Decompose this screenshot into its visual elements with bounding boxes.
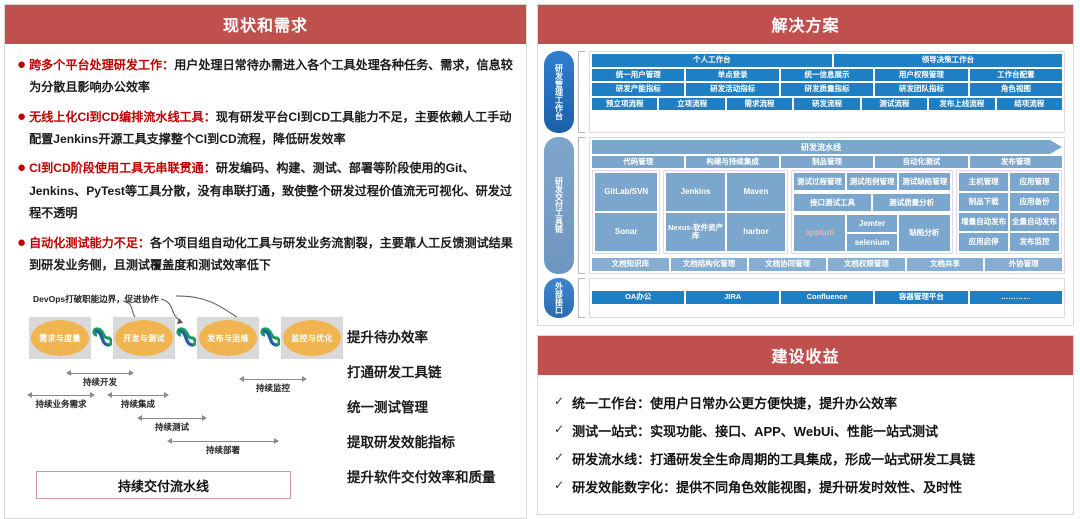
cell-doc-knowledge-base[interactable]: 文档知识库 (592, 258, 669, 270)
tool-jenkins[interactable]: Jenkins (666, 173, 724, 211)
tool-column: Jenkins Nexus-软件资产库 (666, 173, 724, 251)
tool-sonar[interactable]: Sonar (595, 213, 657, 251)
measure-label: 持续集成 (107, 398, 169, 410)
tool-full-release[interactable]: 全量自动发布 (1010, 213, 1059, 231)
docs-row: 文档知识库 文档结构化管理 文档协同管理 文档权限管理 文档共享 外协管理 (592, 258, 1062, 270)
benefits-panel: 建设收益 ✓ 统一工作台：使用户日常办公更方便快捷，提升办公效率 ✓ 测试一站式… (537, 335, 1074, 516)
benefit-body: 使用户日常办公更方便快捷，提升办公效率 (650, 396, 897, 411)
cell-capacity-metrics[interactable]: 研发产能指标 (592, 83, 684, 95)
tool-defect-analysis[interactable]: 缺陷分析 (899, 215, 950, 251)
left-column: 现状和需求 ● 跨多个平台处理研发工作：用户处理日常待办需进入各个工具处理各种任… (4, 4, 527, 515)
issue-text: CI到CD阶段使用工具无串联贯通：研发编码、构建、测试、部署等阶段使用的Git、… (29, 157, 514, 224)
benefit-text: 研发效能数字化：提供不同角色效能视图，提升研发时效性、及时性 (572, 477, 962, 496)
bullet-icon: ● (17, 234, 26, 253)
devops-stage-label: 开发与测试 (115, 320, 173, 356)
layer-brackets (578, 51, 585, 318)
cell-auto-test[interactable]: 自动化测试 (875, 156, 967, 168)
list-item: ● 无线上化CI到CD编排流水线工具：现有研发平台CI到CD工具能力不足，主要依… (17, 106, 514, 151)
toolchain-group: 研发流水线 代码管理 构建与持续集成 制品管理 自动化测试 发布管理 GitLa (589, 137, 1065, 274)
tool-maven[interactable]: Maven (727, 173, 785, 211)
measure-arrow-icon (27, 389, 95, 397)
tool-test-defect-mgmt[interactable]: 测试缺陷管理 (899, 173, 950, 190)
check-icon: ✓ (554, 478, 564, 492)
pipeline-box: 持续交付流水线 (36, 471, 291, 499)
benefit-body: 打通研发全生命周期的工具集成，形成一站式研发工具链 (650, 452, 975, 467)
cell-build-ci[interactable]: 构建与持续集成 (686, 156, 778, 168)
list-item: ✓ 研发流水线：打通研发全生命周期的工具集成，形成一站式研发工具链 (554, 449, 1057, 468)
measure-label: 持续测试 (137, 421, 207, 433)
tool-nexus[interactable]: Nexus-软件资产库 (666, 213, 724, 251)
benefit-body: 提供不同角色效能视图，提升研发时效性、及时性 (676, 480, 962, 495)
workbench-row-4: 预立项流程 立项流程 需求流程 研发流程 测试流程 发布上线流程 结项流程 (592, 98, 1062, 110)
external-group: OA办公 JIRA Confluence 容器管理平台 ………… (589, 278, 1065, 318)
tool-app-start-stop[interactable]: 应用启停 (959, 233, 1008, 251)
devops-stage: 需求与度量 (29, 317, 91, 359)
cell-pre-project-flow[interactable]: 预立项流程 (592, 98, 657, 110)
measure-bars: 持续开发 持续监控 持续业务需求 持续集成 (11, 367, 341, 467)
cell-container-platform[interactable]: 容器管理平台 (875, 291, 967, 304)
check-icon: ✓ (554, 422, 564, 436)
infinity-icon (175, 325, 197, 351)
cell-code-mgmt[interactable]: 代码管理 (592, 156, 684, 168)
tool-release-monitor[interactable]: 发布监控 (1010, 233, 1059, 251)
layer-label-toolchain: 研发交付工具链 (544, 137, 574, 274)
cell-more[interactable]: ………… (970, 291, 1062, 304)
cell-artifact-mgmt[interactable]: 制品管理 (781, 156, 873, 168)
cell-release-flow[interactable]: 发布上线流程 (929, 98, 994, 110)
tool-artifact-download[interactable]: 制品下载 (959, 193, 1008, 211)
layer-label-external: 外部接口 (544, 278, 574, 318)
measure-label: 持续部署 (167, 444, 279, 456)
benefit-head: 研发流水线： (572, 452, 650, 467)
cell-doc-permission-mgmt[interactable]: 文档权限管理 (828, 258, 905, 270)
tool-column: Jemter selenium (847, 215, 896, 251)
issue-head: 跨多个平台处理研发工作： (29, 58, 174, 72)
tool-group-build: Jenkins Nexus-软件资产库 Maven harbor (663, 170, 788, 254)
cell-activity-metrics[interactable]: 研发活动指标 (686, 83, 778, 95)
list-item: 提升软件交付效率和质量 (347, 466, 520, 486)
tool-group-release: 主机管理 制品下载 增量自动发布 应用启停 应用管理 应用备份 全量自动发布 发 (956, 170, 1062, 254)
cell-leader-workbench[interactable]: 领导决策工作台 (834, 54, 1062, 67)
solution-panel: 解决方案 研发管理工作台 研发交付工具链 外部接口 个人工作台 (537, 4, 1074, 326)
benefits-list: ✓ 统一工作台：使用户日常办公更方便快捷，提升办公效率 ✓ 测试一站式：实现功能… (538, 375, 1073, 515)
devops-flow: DevOps打破职能边界，促进协作 需求与度量 (11, 289, 341, 514)
cell-close-flow[interactable]: 结项流程 (997, 98, 1062, 110)
cell-doc-collab-mgmt[interactable]: 文档协同管理 (749, 258, 826, 270)
devops-diagram: DevOps打破职能边界，促进协作 需求与度量 (11, 289, 520, 514)
tool-group-code: GitLab/SVN Sonar (592, 170, 660, 254)
list-item: ✓ 统一工作台：使用户日常办公更方便快捷，提升办公效率 (554, 393, 1057, 412)
measure-arrow-icon (239, 373, 307, 381)
cell-test-flow[interactable]: 测试流程 (862, 98, 927, 110)
tool-test-process-mgmt[interactable]: 测试过程管理 (794, 173, 845, 190)
cell-role-view[interactable]: 角色视图 (970, 83, 1062, 95)
cell-doc-structured-mgmt[interactable]: 文档结构化管理 (671, 258, 748, 270)
bullet-icon: ● (17, 159, 26, 178)
architecture-body: 个人工作台 领导决策工作台 统一用户管理 单点登录 统一信息展示 用户权限管理 … (589, 51, 1065, 318)
cell-release-mgmt[interactable]: 发布管理 (970, 156, 1062, 168)
tool-test-case-mgmt[interactable]: 测试用例管理 (847, 173, 898, 190)
current-status-panel: 现状和需求 ● 跨多个平台处理研发工作：用户处理日常待办需进入各个工具处理各种任… (4, 4, 527, 519)
tool-app-mgmt[interactable]: 应用管理 (1010, 173, 1059, 191)
issue-text: 无线上化CI到CD编排流水线工具：现有研发平台CI到CD工具能力不足，主要依赖人… (29, 106, 514, 151)
workbench-row-3: 研发产能指标 研发活动指标 研发质量指标 研发团队指标 角色视图 (592, 83, 1062, 95)
cell-outsourcing-mgmt[interactable]: 外协管理 (985, 258, 1062, 270)
tool-column: Maven harbor (727, 173, 785, 251)
issue-text: 自动化测试能力不足：各个项目组自动化工具与研发业务流割裂，主要靠人工反馈测试结果… (29, 232, 514, 277)
slide-root: 现状和需求 ● 跨多个平台处理研发工作：用户处理日常待办需进入各个工具处理各种任… (0, 0, 1080, 519)
list-item: ● 跨多个平台处理研发工作：用户处理日常待办需进入各个工具处理各种任务、需求，信… (17, 54, 514, 99)
list-item: 统一测试管理 (347, 396, 520, 416)
measure-arrow-icon (167, 435, 279, 443)
issue-head: CI到CD阶段使用工具无串联贯通： (29, 161, 216, 175)
devops-stage-label: 监控与优化 (283, 320, 341, 356)
benefit-body: 实现功能、接口、APP、WebUi、性能一站式测试 (650, 424, 938, 439)
benefit-text: 测试一站式：实现功能、接口、APP、WebUi、性能一站式测试 (572, 421, 938, 440)
measure-item: 持续集成 (107, 389, 169, 410)
tool-app-backup[interactable]: 应用备份 (1010, 193, 1059, 211)
cell-workbench-config[interactable]: 工作台配置 (970, 69, 1062, 81)
cell-jira[interactable]: JIRA (686, 291, 778, 304)
benefit-text: 研发流水线：打通研发全生命周期的工具集成，形成一站式研发工具链 (572, 449, 975, 468)
devops-stage-label: 发布与运维 (199, 320, 257, 356)
bracket-icon (578, 278, 585, 318)
devops-stage-label: 需求与度量 (31, 320, 89, 356)
bracket-icon (578, 137, 585, 274)
bracket-icon (578, 51, 585, 133)
tool-groups: GitLab/SVN Sonar Jenkins Nexus-软件资产库 (592, 170, 1062, 254)
tool-api-test[interactable]: 接口测试工具 (794, 194, 871, 211)
measure-label: 持续开发 (66, 376, 134, 388)
measure-label: 持续业务需求 (27, 398, 95, 410)
cell-confluence[interactable]: Confluence (781, 291, 873, 304)
benefits-title: 建设收益 (538, 336, 1073, 375)
issue-head: 自动化测试能力不足： (29, 236, 150, 250)
measure-item: 持续业务需求 (27, 389, 95, 410)
measure-label: 持续监控 (239, 382, 307, 394)
tool-host-mgmt[interactable]: 主机管理 (959, 173, 1008, 191)
measure-arrow-icon (107, 389, 169, 397)
cell-sso[interactable]: 单点登录 (686, 69, 778, 81)
benefit-head: 研发效能数字化： (572, 480, 676, 495)
architecture-layer-labels: 研发管理工作台 研发交付工具链 外部接口 (544, 51, 574, 318)
tool-appium[interactable]: appium (794, 215, 845, 251)
cell-quality-metrics[interactable]: 研发质量指标 (781, 83, 873, 95)
benefit-text: 统一工作台：使用户日常办公更方便快捷，提升办公效率 (572, 393, 897, 412)
pipeline-banner: 研发流水线 (592, 140, 1050, 154)
tool-group-test: 测试过程管理 测试用例管理 测试缺陷管理 接口测试工具 测试质量分析 appiu… (791, 170, 953, 254)
tool-harbor[interactable]: harbor (727, 213, 785, 251)
check-icon: ✓ (554, 450, 564, 464)
cell-oa[interactable]: OA办公 (592, 291, 684, 304)
bullet-icon: ● (17, 56, 26, 75)
cell-personal-workbench[interactable]: 个人工作台 (592, 54, 832, 67)
external-row: OA办公 JIRA Confluence 容器管理平台 ………… (592, 291, 1062, 304)
issue-text: 跨多个平台处理研发工作：用户处理日常待办需进入各个工具处理各种任务、需求，信息较… (29, 54, 514, 99)
tool-selenium[interactable]: selenium (847, 234, 896, 251)
right-column: 解决方案 研发管理工作台 研发交付工具链 外部接口 个人工作台 (537, 4, 1074, 515)
test-row-2: 接口测试工具 测试质量分析 (794, 194, 950, 211)
tool-column: 应用管理 应用备份 全量自动发布 发布监控 (1010, 173, 1059, 251)
tool-column: GitLab/SVN Sonar (595, 173, 657, 251)
check-icon: ✓ (554, 394, 564, 408)
list-item: 提升待办效率 (347, 326, 520, 346)
list-item: ✓ 测试一站式：实现功能、接口、APP、WebUi、性能一站式测试 (554, 421, 1057, 440)
benefit-head: 统一工作台： (572, 396, 650, 411)
current-status-title: 现状和需求 (5, 5, 526, 44)
workbench-row-2: 统一用户管理 单点登录 统一信息展示 用户权限管理 工作台配置 (592, 69, 1062, 81)
cell-dev-flow[interactable]: 研发流程 (794, 98, 859, 110)
measure-arrow-icon (66, 367, 134, 375)
devops-benefit-list: 提升待办效率 打通研发工具链 统一测试管理 提取研发效能指标 提升软件交付效率和… (341, 289, 520, 514)
infinity-icon (91, 325, 113, 351)
benefit-head: 测试一站式： (572, 424, 650, 439)
list-item: 提取研发效能指标 (347, 431, 520, 451)
workbench-top-row: 个人工作台 领导决策工作台 (592, 54, 1062, 67)
test-row-1: 测试过程管理 测试用例管理 测试缺陷管理 (794, 173, 950, 190)
cell-project-flow[interactable]: 立项流程 (659, 98, 724, 110)
measure-arrow-icon (137, 412, 207, 420)
tool-test-quality-analysis[interactable]: 测试质量分析 (873, 194, 950, 211)
tool-jmeter[interactable]: Jemter (847, 215, 896, 232)
devops-stage: 监控与优化 (281, 317, 343, 359)
list-item: ● CI到CD阶段使用工具无串联贯通：研发编码、构建、测试、部署等阶段使用的Gi… (17, 157, 514, 224)
tool-incremental-release[interactable]: 增量自动发布 (959, 213, 1008, 231)
tool-column: 主机管理 制品下载 增量自动发布 应用启停 (959, 173, 1008, 251)
layer-label-workbench: 研发管理工作台 (544, 51, 574, 133)
cell-unified-info-display[interactable]: 统一信息展示 (781, 69, 873, 81)
infinity-icon (259, 325, 281, 351)
devops-stage: 开发与测试 (113, 317, 175, 359)
bullet-icon: ● (17, 108, 26, 127)
solution-title: 解决方案 (538, 5, 1073, 44)
measure-item: 持续监控 (239, 373, 307, 394)
pipeline-stage-row: 代码管理 构建与持续集成 制品管理 自动化测试 发布管理 (592, 156, 1062, 168)
list-item: ● 自动化测试能力不足：各个项目组自动化工具与研发业务流割裂，主要靠人工反馈测试… (17, 232, 514, 277)
cell-team-metrics[interactable]: 研发团队指标 (875, 83, 967, 95)
issue-list: ● 跨多个平台处理研发工作：用户处理日常待办需进入各个工具处理各种任务、需求，信… (5, 44, 526, 287)
measure-item: 持续测试 (137, 412, 207, 433)
devops-stage: 发布与运维 (197, 317, 259, 359)
list-item: 打通研发工具链 (347, 361, 520, 381)
issue-head: 无线上化CI到CD编排流水线工具： (29, 110, 216, 124)
devops-stage-row: 需求与度量 开发与测试 发布与运维 监控与优化 (29, 317, 343, 359)
cell-doc-share[interactable]: 文档共享 (907, 258, 984, 270)
architecture-diagram: 研发管理工作台 研发交付工具链 外部接口 个人工作台 领导决策工作台 (538, 44, 1073, 325)
cell-user-permission-mgmt[interactable]: 用户权限管理 (875, 69, 967, 81)
list-item: ✓ 研发效能数字化：提供不同角色效能视图，提升研发时效性、及时性 (554, 477, 1057, 496)
tool-gitlab-svn[interactable]: GitLab/SVN (595, 173, 657, 211)
test-row-3: appium Jemter selenium 缺陷分析 (794, 215, 950, 251)
measure-item: 持续部署 (167, 435, 279, 456)
measure-item: 持续开发 (66, 367, 134, 388)
cell-unified-user-mgmt[interactable]: 统一用户管理 (592, 69, 684, 81)
workbench-group: 个人工作台 领导决策工作台 统一用户管理 单点登录 统一信息展示 用户权限管理 … (589, 51, 1065, 133)
cell-requirement-flow[interactable]: 需求流程 (727, 98, 792, 110)
